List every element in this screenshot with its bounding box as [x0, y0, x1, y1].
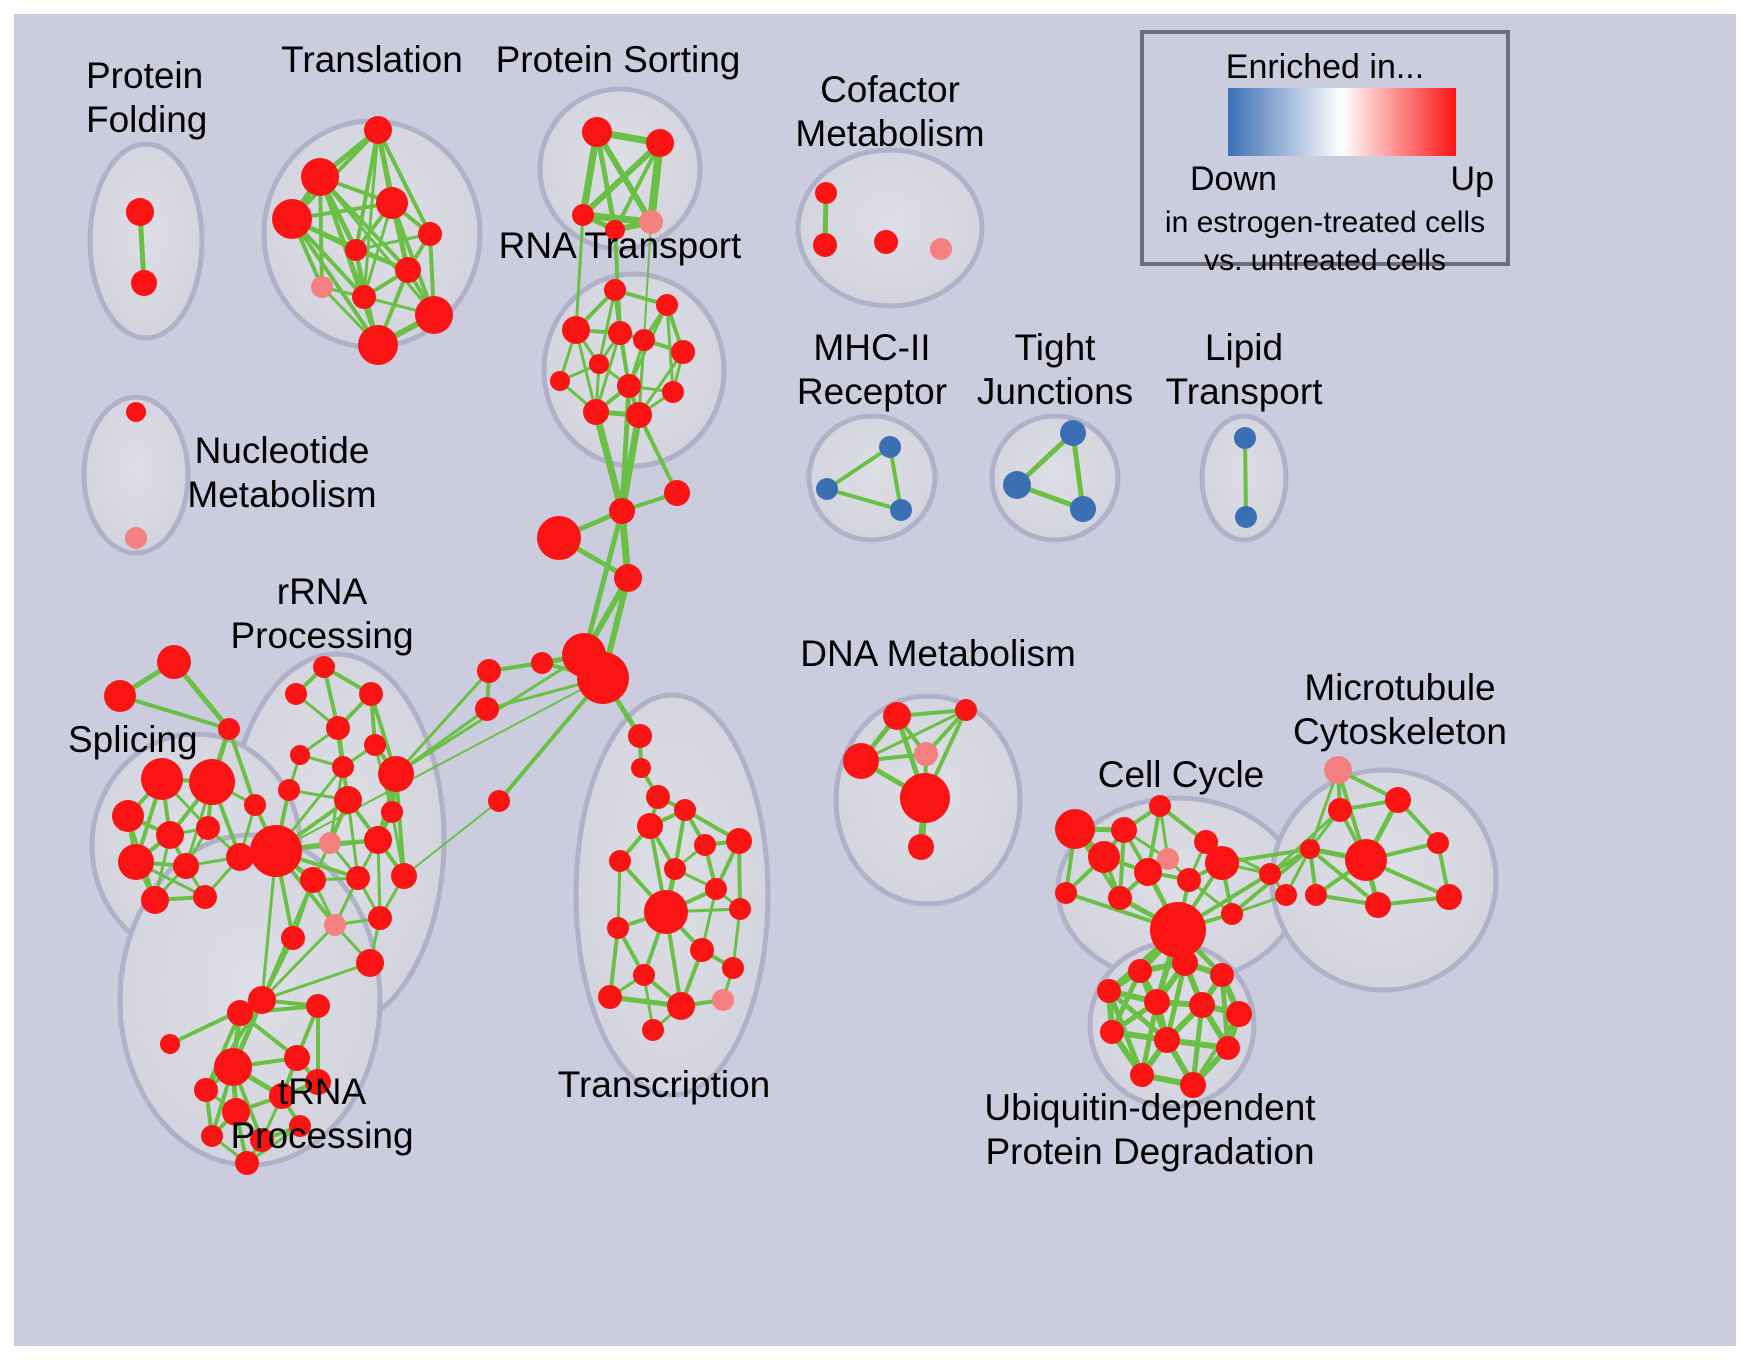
network-node[interactable] — [364, 734, 386, 756]
cluster-label-translation: Translation — [281, 39, 463, 80]
network-node[interactable] — [1070, 496, 1096, 522]
network-node[interactable] — [614, 564, 642, 592]
network-node[interactable] — [690, 938, 714, 962]
network-node[interactable] — [674, 799, 696, 821]
network-node[interactable] — [813, 233, 837, 257]
network-node[interactable] — [843, 743, 879, 779]
network-node[interactable] — [475, 697, 499, 721]
network-node[interactable] — [272, 199, 312, 239]
network-node[interactable] — [104, 680, 136, 712]
network-node[interactable] — [214, 1048, 252, 1086]
network-node[interactable] — [313, 656, 335, 678]
network-node[interactable] — [1275, 884, 1297, 906]
network-node[interactable] — [1189, 992, 1215, 1018]
network-node[interactable] — [1144, 989, 1170, 1015]
network-node[interactable] — [364, 826, 392, 854]
network-node[interactable] — [1128, 959, 1152, 983]
network-node[interactable] — [218, 718, 240, 740]
network-node[interactable] — [1055, 882, 1077, 904]
legend-title: Enriched in... — [1226, 48, 1424, 86]
network-node[interactable] — [712, 989, 734, 1011]
network-node[interactable] — [1100, 1020, 1124, 1044]
network-node[interactable] — [226, 843, 254, 871]
network-node[interactable] — [126, 198, 154, 226]
network-node[interactable] — [326, 716, 350, 740]
network-node[interactable] — [1324, 756, 1352, 784]
network-node[interactable] — [633, 964, 655, 986]
network-node[interactable] — [345, 239, 367, 261]
network-node[interactable] — [726, 828, 752, 854]
network-node[interactable] — [141, 758, 183, 800]
network-node[interactable] — [244, 794, 266, 816]
network-node[interactable] — [1150, 902, 1206, 958]
network-node[interactable] — [364, 116, 392, 144]
network-node[interactable] — [381, 801, 403, 823]
network-node[interactable] — [1221, 903, 1243, 925]
network-node[interactable] — [368, 906, 392, 930]
network-node[interactable] — [1003, 471, 1031, 499]
network-node[interactable] — [955, 699, 977, 721]
network-node[interactable] — [112, 800, 144, 832]
cluster-ellipse-mhc-ii-receptor[interactable] — [809, 416, 935, 540]
network-node[interactable] — [194, 1078, 218, 1102]
network-node[interactable] — [1149, 795, 1171, 817]
network-node[interactable] — [664, 480, 690, 506]
network-node[interactable] — [1216, 1036, 1240, 1060]
network-node[interactable] — [1111, 817, 1137, 843]
cluster-ellipse-protein-folding[interactable] — [90, 144, 202, 338]
network-node[interactable] — [908, 834, 934, 860]
network-node[interactable] — [346, 866, 370, 890]
network-node[interactable] — [617, 374, 641, 398]
network-node[interactable] — [582, 117, 612, 147]
network-node[interactable] — [1055, 809, 1095, 849]
legend-caption-line2: vs. untreated cells — [1204, 244, 1446, 277]
network-node[interactable] — [118, 844, 154, 880]
network-node[interactable] — [631, 758, 651, 778]
network-node[interactable] — [1365, 892, 1391, 918]
network-node[interactable] — [664, 858, 686, 880]
network-node[interactable] — [311, 276, 333, 298]
network-node[interactable] — [1108, 886, 1132, 910]
network-node[interactable] — [376, 187, 408, 219]
network-node[interactable] — [281, 926, 305, 950]
network-node[interactable] — [1328, 798, 1352, 822]
network-node[interactable] — [1234, 427, 1256, 449]
network-node[interactable] — [141, 886, 169, 914]
network-node[interactable] — [334, 786, 362, 814]
cluster-label-cell-cycle: Cell Cycle — [1098, 754, 1265, 795]
network-node[interactable] — [609, 850, 631, 872]
legend-caption-line1: in estrogen-treated cells — [1165, 206, 1485, 239]
network-node[interactable] — [201, 1125, 223, 1147]
cluster-label-rna-transport: RNA Transport — [499, 225, 742, 266]
network-node[interactable] — [189, 759, 235, 805]
legend: Enriched in... Down Up in estrogen-treat… — [1142, 32, 1508, 277]
network-edge — [1245, 438, 1246, 517]
network-node[interactable] — [356, 949, 384, 977]
network-node[interactable] — [642, 1019, 664, 1041]
network-node[interactable] — [874, 230, 898, 254]
network-node[interactable] — [722, 957, 744, 979]
network-node[interactable] — [157, 645, 191, 679]
network-node[interactable] — [667, 992, 695, 1020]
network-node[interactable] — [577, 652, 629, 704]
network-node[interactable] — [285, 683, 307, 705]
network-node[interactable] — [662, 381, 684, 403]
network-node[interactable] — [531, 652, 553, 674]
network-node[interactable] — [415, 296, 453, 334]
network-node[interactable] — [306, 994, 330, 1018]
network-node[interactable] — [1177, 868, 1201, 892]
network-node[interactable] — [900, 773, 950, 823]
network-node[interactable] — [284, 1045, 310, 1071]
network-node[interactable] — [883, 702, 911, 730]
network-diagram: ProteinFoldingTranslationProtein Sorting… — [0, 0, 1750, 1360]
network-node[interactable] — [125, 527, 147, 549]
network-node[interactable] — [646, 785, 670, 809]
legend-down-label: Down — [1190, 160, 1277, 198]
network-node[interactable] — [278, 779, 300, 801]
network-node[interactable] — [1172, 950, 1198, 976]
network-node[interactable] — [604, 279, 626, 301]
network-node[interactable] — [816, 478, 838, 500]
network-node[interactable] — [332, 756, 354, 778]
network-node[interactable] — [126, 402, 146, 422]
network-node[interactable] — [352, 285, 376, 309]
network-node[interactable] — [1210, 963, 1234, 987]
network-node[interactable] — [193, 885, 217, 909]
network-node[interactable] — [729, 898, 751, 920]
network-node[interactable] — [656, 294, 678, 316]
network-node[interactable] — [1305, 884, 1327, 906]
cluster-label-splicing: Splicing — [68, 719, 198, 760]
network-node[interactable] — [319, 832, 341, 854]
network-node[interactable] — [1134, 858, 1162, 886]
network-node[interactable] — [488, 790, 510, 812]
network-node[interactable] — [562, 316, 590, 344]
network-node[interactable] — [550, 371, 570, 391]
network-node[interactable] — [1088, 841, 1120, 873]
legend-up-label: Up — [1451, 160, 1494, 198]
network-node[interactable] — [1300, 839, 1320, 859]
network-node[interactable] — [572, 204, 594, 226]
network-node[interactable] — [644, 890, 688, 934]
network-node[interactable] — [156, 821, 184, 849]
cluster-label-dna-metabolism: DNA Metabolism — [800, 633, 1076, 674]
network-node[interactable] — [477, 659, 501, 683]
network-node[interactable] — [227, 1000, 253, 1026]
network-node[interactable] — [160, 1034, 180, 1054]
network-node[interactable] — [1130, 1063, 1154, 1087]
network-node[interactable] — [300, 867, 326, 893]
network-node[interactable] — [609, 498, 635, 524]
network-node[interactable] — [914, 742, 938, 766]
network-node[interactable] — [290, 745, 310, 765]
network-node[interactable] — [378, 756, 414, 792]
network-node[interactable] — [583, 399, 609, 425]
network-node[interactable] — [1154, 1027, 1180, 1053]
network-node[interactable] — [537, 516, 581, 560]
network-node[interactable] — [705, 878, 727, 900]
network-node[interactable] — [890, 499, 912, 521]
network-node[interactable] — [196, 816, 220, 840]
network-node[interactable] — [598, 985, 622, 1009]
network-node[interactable] — [1060, 420, 1086, 446]
network-node[interactable] — [628, 724, 652, 748]
network-node[interactable] — [1385, 787, 1411, 813]
network-node[interactable] — [301, 158, 339, 196]
network-node[interactable] — [1436, 884, 1462, 910]
network-node[interactable] — [1205, 846, 1239, 880]
network-node[interactable] — [358, 325, 398, 365]
cluster-label-transcription: Transcription — [558, 1064, 770, 1105]
network-node[interactable] — [1345, 839, 1387, 881]
network-node[interactable] — [418, 222, 442, 246]
network-node[interactable] — [1427, 832, 1449, 854]
network-node[interactable] — [930, 238, 952, 260]
network-node[interactable] — [626, 402, 652, 428]
network-node[interactable] — [1097, 979, 1121, 1003]
network-node[interactable] — [1259, 863, 1281, 885]
figure-container: ProteinFoldingTranslationProtein Sorting… — [0, 0, 1750, 1360]
network-node[interactable] — [815, 182, 837, 204]
network-node[interactable] — [1235, 506, 1257, 528]
legend-color-bar — [1228, 88, 1456, 156]
network-node[interactable] — [694, 834, 716, 856]
network-node[interactable] — [395, 257, 421, 283]
network-node[interactable] — [671, 340, 695, 364]
network-node[interactable] — [250, 825, 302, 877]
cluster-label-protein-sorting: Protein Sorting — [496, 39, 741, 80]
network-node[interactable] — [131, 270, 157, 296]
network-node[interactable] — [646, 129, 674, 157]
network-node[interactable] — [633, 329, 655, 351]
network-node[interactable] — [879, 436, 901, 458]
network-node[interactable] — [608, 321, 632, 345]
network-node[interactable] — [359, 682, 383, 706]
network-node[interactable] — [607, 917, 629, 939]
network-node[interactable] — [324, 914, 346, 936]
network-node[interactable] — [637, 813, 663, 839]
network-node[interactable] — [1226, 1001, 1252, 1027]
network-node[interactable] — [391, 863, 417, 889]
network-node[interactable] — [173, 853, 199, 879]
network-node[interactable] — [589, 354, 609, 374]
